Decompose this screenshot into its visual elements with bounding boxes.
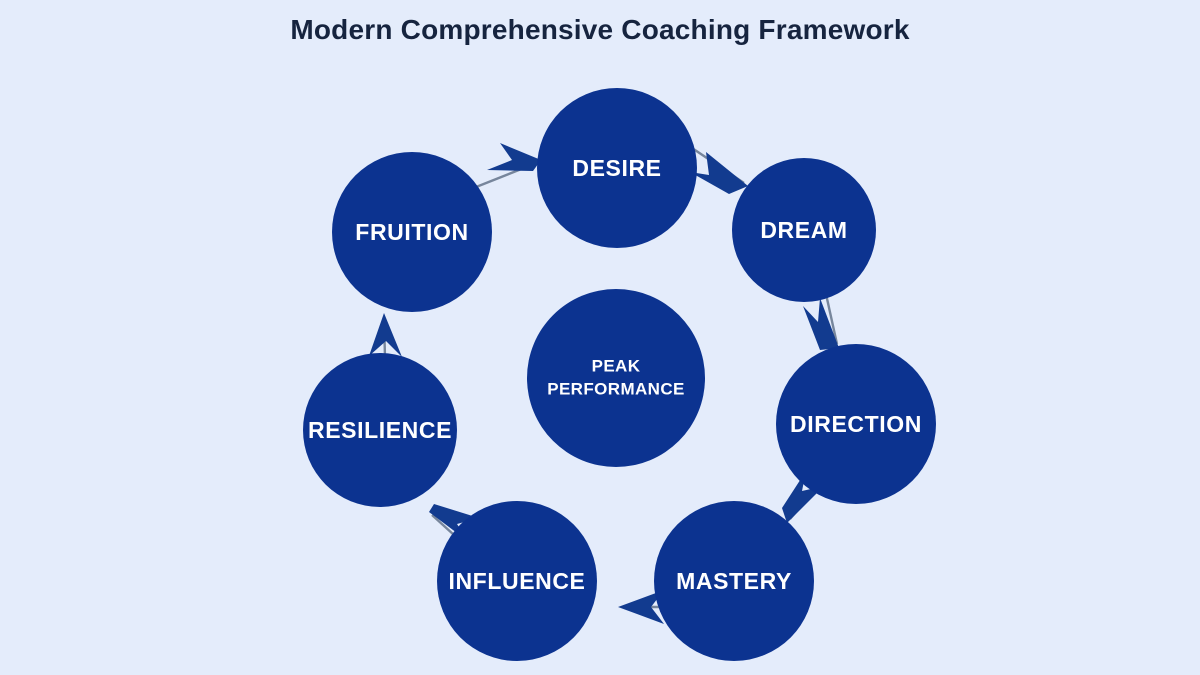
node-mastery[interactable]: MASTERY [654,501,814,661]
node-label: MASTERY [676,568,792,594]
center-label-line-2: PERFORMANCE [547,379,685,398]
node-label: INFLUENCE [448,568,585,594]
node-resilience[interactable]: RESILIENCE [303,353,457,507]
arrow-head-icon [690,152,748,194]
connector-dream-to-direction [803,294,839,350]
node-fruition[interactable]: FRUITION [332,152,492,312]
node-label: DESIRE [572,155,661,181]
node-dream[interactable]: DREAM [732,158,876,302]
arrow-head-icon [487,143,541,171]
connector-fruition-to-desire [466,143,541,191]
node-label: DIRECTION [790,411,922,437]
node-label: FRUITION [355,219,468,245]
node-circle[interactable] [527,289,705,467]
center-label-line-1: PEAK [592,356,641,375]
coaching-framework-diagram: DESIRE DREAM DIRECTION MASTERY INFLUENCE [0,0,1200,675]
diagram-canvas: Modern Comprehensive Coaching Framework [0,0,1200,675]
connector-resilience-to-fruition [369,313,402,358]
node-label: RESILIENCE [308,417,452,443]
node-group: DESIRE DREAM DIRECTION MASTERY INFLUENCE [303,88,936,661]
node-label: DREAM [760,217,847,243]
node-desire[interactable]: DESIRE [537,88,697,248]
connector-desire-to-dream [690,148,748,194]
node-peak-performance[interactable]: PEAK PERFORMANCE [527,289,705,467]
node-direction[interactable]: DIRECTION [776,344,936,504]
node-influence[interactable]: INFLUENCE [437,501,597,661]
